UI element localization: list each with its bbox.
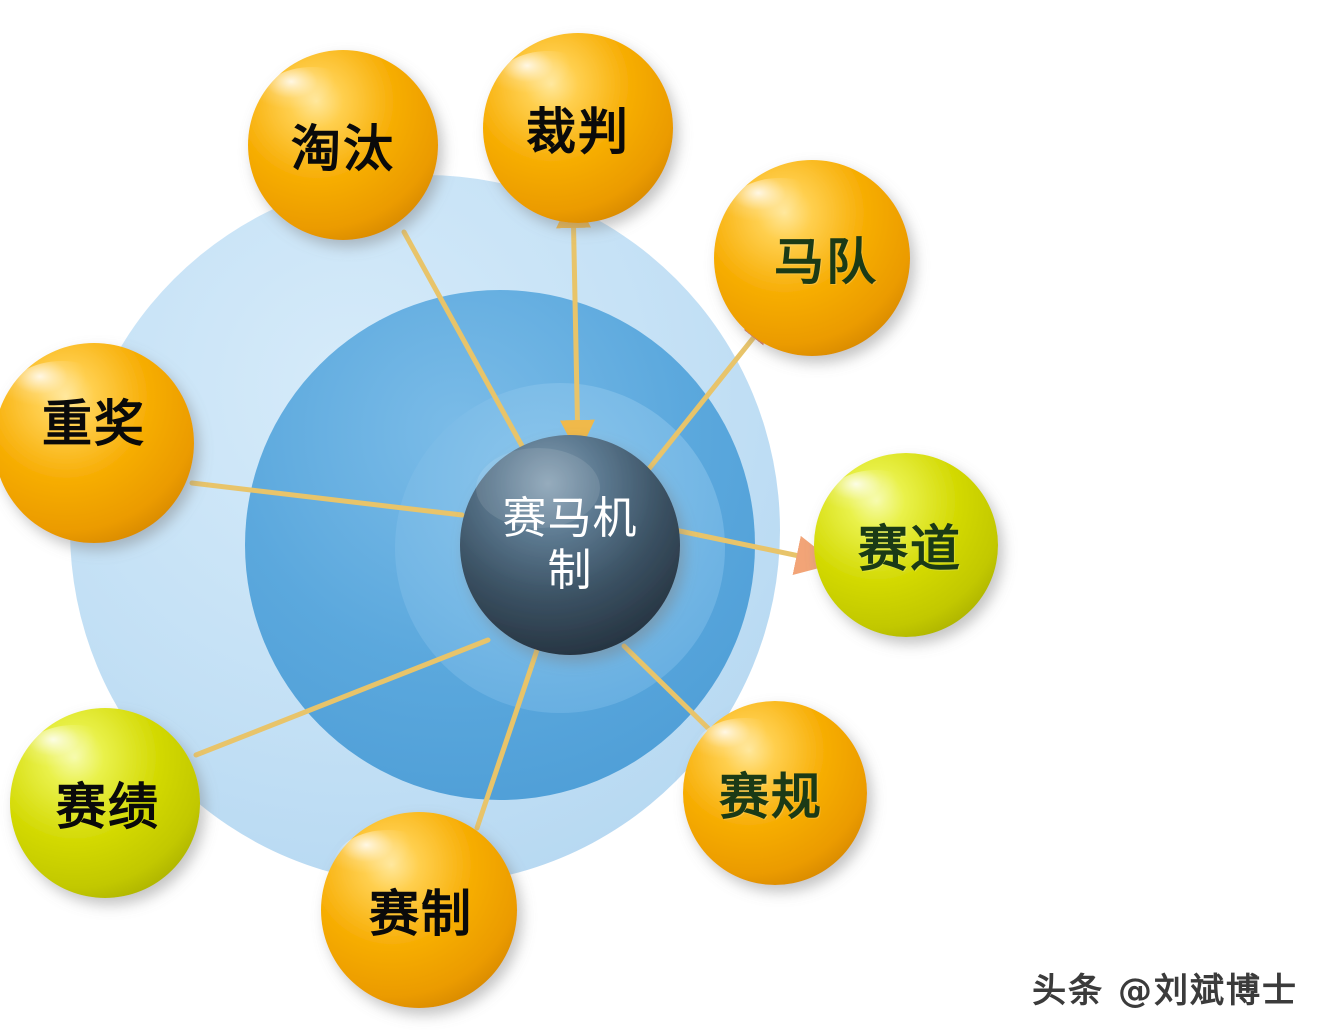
node-saiji-gloss — [22, 725, 126, 791]
node-madui-gloss — [726, 178, 834, 246]
diagram-svg — [0, 0, 1318, 1030]
node-saiji[interactable] — [10, 708, 200, 898]
node-zhongjiang-gloss — [7, 361, 117, 431]
node-saigui-gloss — [695, 718, 795, 782]
diagram-canvas: 赛马机 制 淘汰 裁判 马队 赛道 赛规 赛制 赛绩 重奖 头条 @刘斌博士 — [0, 0, 1318, 1030]
node-caipan[interactable] — [483, 33, 673, 223]
node-saidao[interactable] — [814, 453, 998, 637]
node-saizhi-gloss — [334, 830, 442, 898]
center-node[interactable] — [460, 435, 680, 655]
node-zhongjiang[interactable] — [0, 343, 194, 543]
node-taotai[interactable] — [248, 50, 438, 240]
watermark: 头条 @刘斌博士 — [1032, 963, 1298, 1012]
node-saigui[interactable] — [683, 701, 867, 885]
center-sphere-gloss — [476, 448, 600, 528]
node-saizhi[interactable] — [321, 812, 517, 1008]
node-caipan-gloss — [496, 51, 600, 117]
node-saidao-gloss — [826, 470, 926, 534]
node-taotai-gloss — [260, 67, 364, 133]
node-madui[interactable] — [714, 160, 910, 356]
